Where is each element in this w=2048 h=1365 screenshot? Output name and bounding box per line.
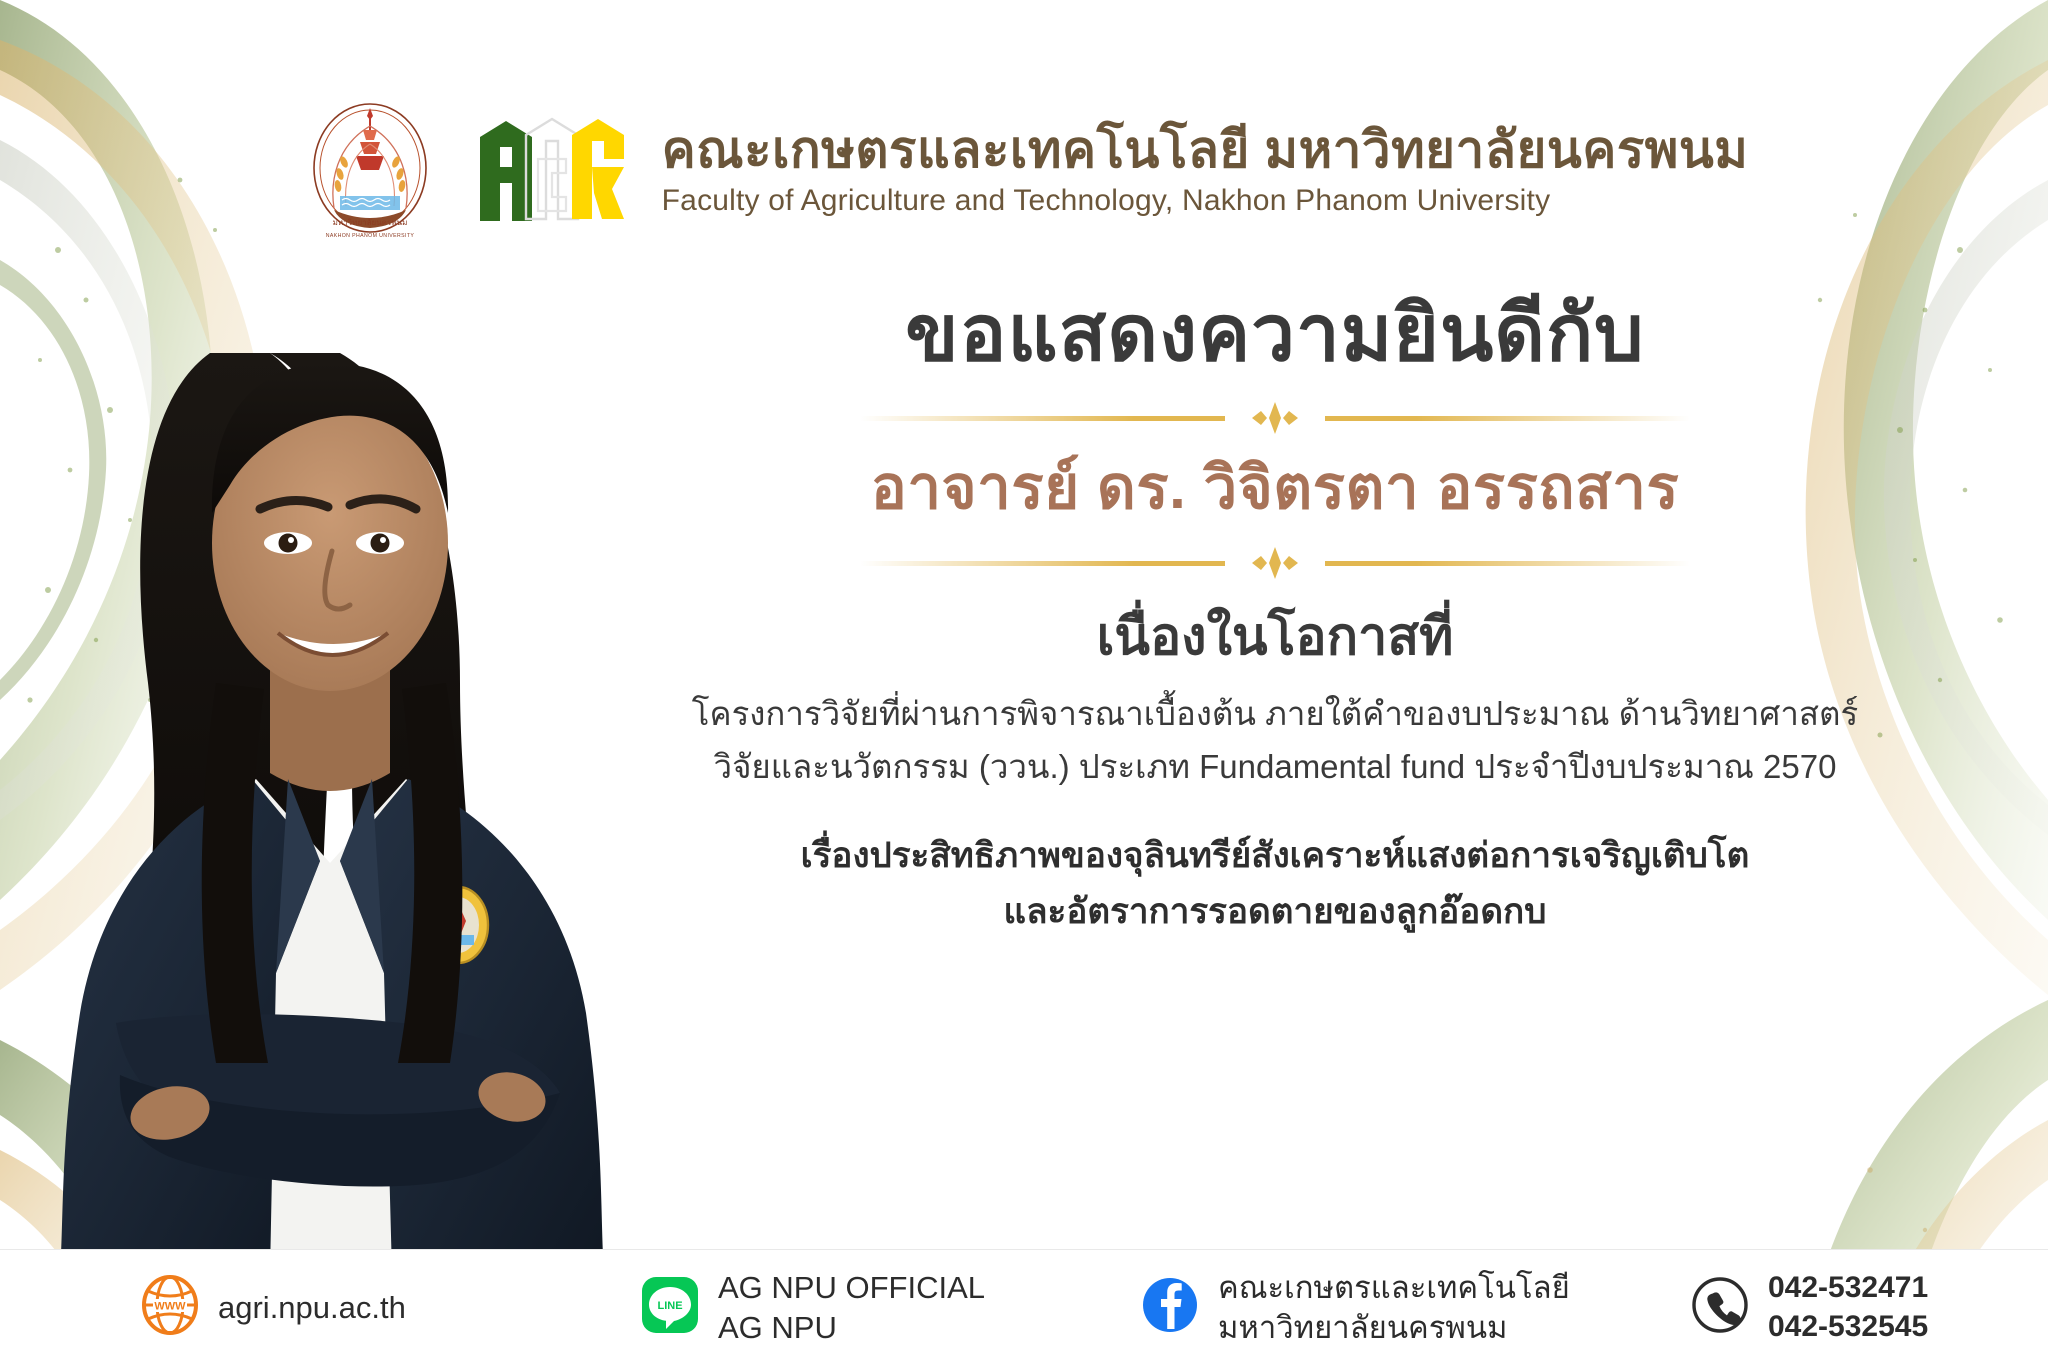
divider-bar-left bbox=[860, 416, 1225, 421]
phone-label: 042-532471 042-532545 bbox=[1768, 1269, 1928, 1346]
phone-icon bbox=[1690, 1275, 1750, 1340]
svg-text:WWW: WWW bbox=[154, 1301, 186, 1313]
research-title-line-2: และอัตราการรอดตายของลูกอ๊อดกบ bbox=[640, 884, 1910, 940]
organization-title-th: คณะเกษตรและเทคโนโลยี มหาวิทยาลัยนครพนม bbox=[662, 122, 1749, 178]
poster-footer: WWW agri.npu.ac.th LINE AG NPU OFFICIAL … bbox=[0, 1249, 2048, 1365]
phone-number-1: 042-532471 bbox=[1768, 1271, 1928, 1304]
congratulations-poster: มหาวิทยาลัยนครพนม NAKHON PHANOM UNIVERSI… bbox=[0, 0, 2048, 1365]
diamond-ornament-icon-2 bbox=[1252, 547, 1298, 579]
facebook-label: คณะเกษตรและเทคโนโลยี มหาวิทยาลัยนครพนม bbox=[1218, 1268, 1570, 1347]
facebook-label-2: มหาวิทยาลัยนครพนม bbox=[1218, 1308, 1570, 1348]
diamond-ornament-icon bbox=[1252, 402, 1298, 434]
footer-phone[interactable]: 042-532471 042-532545 bbox=[1690, 1269, 1928, 1346]
facebook-icon bbox=[1140, 1275, 1200, 1340]
line-label-2: AG NPU bbox=[718, 1308, 985, 1348]
occasion-body-line-1: โครงการวิจัยที่ผ่านการพิจารณาเบื้องต้น ภ… bbox=[640, 687, 1910, 740]
portrait-photo bbox=[20, 213, 660, 1273]
divider-ornament-bottom bbox=[860, 546, 1690, 580]
facebook-label-1: คณะเกษตรและเทคโนโลยี bbox=[1218, 1270, 1570, 1305]
occasion-body-line-2: วิจัยและนวัตกรรม (ววน.) ประเภท Fundament… bbox=[640, 740, 1910, 793]
footer-website[interactable]: WWW agri.npu.ac.th bbox=[140, 1275, 406, 1340]
footer-line[interactable]: LINE AG NPU OFFICIAL AG NPU bbox=[640, 1268, 985, 1347]
line-label-1: AG NPU OFFICIAL bbox=[718, 1270, 985, 1305]
phone-number-2: 042-532545 bbox=[1768, 1308, 1928, 1346]
organization-title-block: คณะเกษตรและเทคโนโลยี มหาวิทยาลัยนครพนม F… bbox=[662, 122, 1749, 220]
divider-bar-right bbox=[1325, 416, 1690, 421]
svg-text:LINE: LINE bbox=[657, 1300, 682, 1312]
research-title-line-1: เรื่องประสิทธิภาพของจุลินทรีย์สังเคราะห์… bbox=[640, 828, 1910, 884]
poster-main-content: ขอแสดงความยินดีกับ อาจารย์ ดร. วิจิตรตา … bbox=[640, 290, 1910, 940]
congratulations-heading: ขอแสดงความยินดีกับ bbox=[640, 290, 1910, 377]
divider-bar-right-2 bbox=[1325, 561, 1690, 566]
organization-title-en: Faculty of Agriculture and Technology, N… bbox=[662, 182, 1749, 220]
honoree-name: อาจารย์ ดร. วิจิตรตา อรรถสาร bbox=[640, 453, 1910, 522]
occasion-heading: เนื่องในโอกาสที่ bbox=[640, 606, 1910, 668]
line-icon: LINE bbox=[640, 1275, 700, 1340]
footer-facebook[interactable]: คณะเกษตรและเทคโนโลยี มหาวิทยาลัยนครพนม bbox=[1140, 1268, 1570, 1347]
website-label: agri.npu.ac.th bbox=[218, 1288, 406, 1328]
divider-bar-left-2 bbox=[860, 561, 1225, 566]
divider-ornament-top bbox=[860, 401, 1690, 435]
line-label: AG NPU OFFICIAL AG NPU bbox=[718, 1268, 985, 1347]
globe-www-icon: WWW bbox=[140, 1275, 200, 1340]
